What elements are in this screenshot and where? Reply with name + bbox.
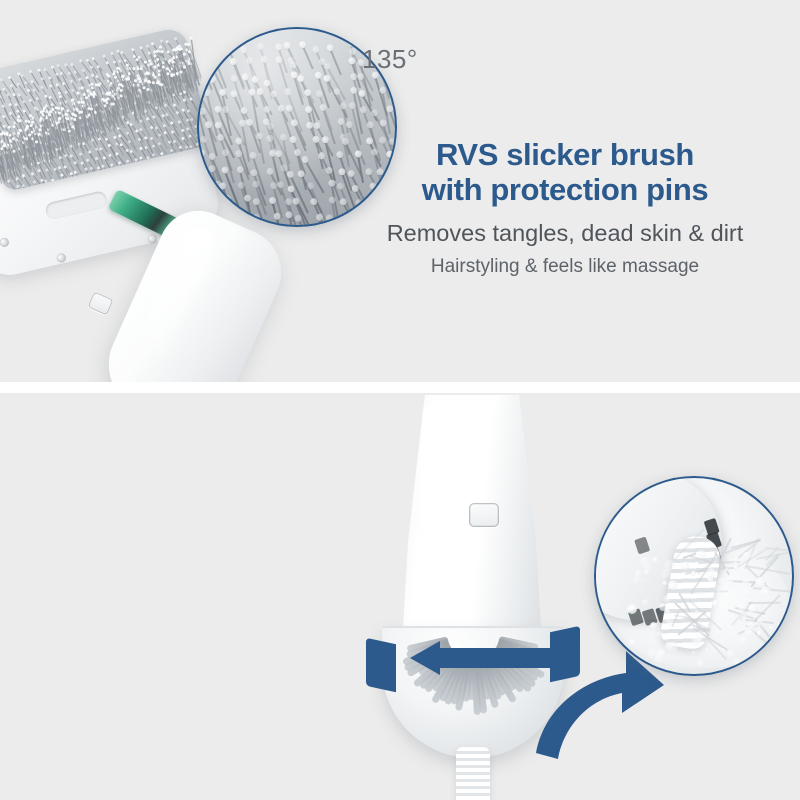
pin-ball-tip — [127, 78, 130, 81]
pin-ball-tip — [56, 122, 59, 125]
pin-ball-tip — [61, 107, 64, 110]
pin-ball-tip — [81, 87, 84, 90]
pin-ball-tip — [156, 81, 159, 84]
pin-ball-tip — [156, 50, 159, 53]
pin-ball-tip — [87, 89, 90, 92]
hair-tuft — [742, 578, 750, 586]
pin-ball-tip — [80, 111, 83, 114]
pin-ball-tip — [40, 117, 43, 120]
pin-ball-tip — [18, 119, 21, 122]
hair-tuft — [721, 648, 725, 652]
pin-ball-tip — [137, 67, 140, 70]
pin-ball-tip — [114, 76, 117, 79]
pin-ball-tip — [176, 72, 179, 75]
pin-ball-tip — [91, 83, 94, 86]
pin-ball-tip — [154, 54, 157, 57]
pet-hair-dryer-photo — [330, 395, 630, 800]
pin-ball-tip — [161, 50, 164, 53]
hair-tuft — [760, 587, 771, 598]
hair-tuft — [743, 552, 750, 559]
hair-tuft — [718, 577, 726, 585]
pin-ball-tip — [8, 126, 11, 129]
pin-ball-tip — [187, 43, 190, 46]
pin-ball-tip — [137, 77, 140, 80]
pin-ball-tip — [168, 59, 171, 62]
pin-ball-tip — [59, 95, 62, 98]
pin-ball-tip — [142, 86, 145, 89]
pin-ball-tip — [166, 67, 169, 70]
pin-ball-tip — [57, 107, 60, 110]
hair-tuft — [635, 569, 643, 577]
pin-ball-tip — [126, 64, 129, 67]
pin-ball-tip — [121, 75, 124, 78]
pin-ball-tip — [154, 76, 157, 79]
pin-ball-tip — [17, 115, 20, 118]
hair-tuft — [629, 639, 636, 646]
pin-ball-tip — [71, 113, 74, 116]
panel-divider — [0, 382, 800, 393]
pin-ball-tip — [107, 97, 110, 100]
pin-ball-tip — [90, 93, 93, 96]
pin-ball-tip — [81, 101, 84, 104]
pin-ball-tip — [97, 84, 100, 87]
filter-cap-tooth — [634, 536, 650, 554]
pin-ball-tip — [144, 61, 147, 64]
pin-ball-tip — [12, 137, 15, 140]
pin-ball-tip — [103, 99, 106, 102]
pin-ball-tip — [66, 117, 69, 120]
pin-ball-tip — [12, 125, 15, 128]
pin-ball-tip — [31, 121, 34, 124]
pin-ball-tip — [0, 147, 3, 150]
pin-ball-tip — [107, 75, 110, 78]
pin-ball-tip — [174, 49, 177, 52]
pin-ball-tip — [148, 60, 151, 63]
hair-tuft — [633, 577, 640, 584]
pin-ball-tip — [25, 127, 28, 130]
pin-ball-tip — [116, 67, 119, 70]
hair-tuft — [695, 610, 699, 614]
pin-ball-tip — [71, 99, 74, 102]
pin-ball-tip — [9, 134, 12, 137]
rvs-slicker-brush-feature-panel: 135° RVS slicker brush with protection p… — [0, 0, 800, 382]
filter-closeup-magnifier — [594, 476, 794, 676]
pin-ball-tip — [87, 107, 90, 110]
pin-ball-tip — [110, 82, 113, 85]
pin-ball-tip — [183, 66, 186, 69]
pin-ball-tip — [139, 80, 142, 83]
pin-ball-tip — [140, 67, 143, 70]
pin-ball-tip — [58, 112, 61, 115]
hair-tuft — [659, 603, 667, 611]
pin-ball-tip — [120, 89, 123, 92]
pin-ball-tip — [162, 66, 165, 69]
pin-ball-tip — [188, 62, 191, 65]
hair-tuft — [744, 627, 755, 638]
pin-ball-tip — [144, 79, 147, 82]
pin-ball-tip — [85, 96, 88, 99]
pin-ball-tip — [48, 113, 51, 116]
pin-ball-tip — [147, 72, 150, 75]
pin-ball-tip — [25, 137, 28, 140]
pin-ball-tip — [184, 43, 187, 46]
hair-tuft — [662, 569, 671, 578]
pin-ball-tip — [90, 108, 93, 111]
hair-tuft — [697, 660, 704, 667]
pin-ball-tip — [0, 140, 3, 143]
pin-ball-tip — [133, 67, 136, 70]
pin-ball-tip — [38, 133, 41, 136]
hair-tuft — [697, 550, 706, 559]
hair-tuft — [640, 557, 650, 567]
hair-tuft — [662, 581, 667, 586]
product-infographic: 135° RVS slicker brush with protection p… — [0, 0, 800, 800]
pin-ball-tip — [183, 53, 186, 56]
pin-ball-tip — [19, 129, 22, 132]
brush-power-button[interactable] — [87, 291, 113, 315]
hair-tuft — [717, 591, 721, 595]
pin-ball-tip — [28, 134, 31, 137]
pin-ball-tip — [4, 132, 7, 135]
pin-ball-tip — [167, 72, 170, 75]
hair-tuft — [666, 618, 674, 626]
pin-ball-tip — [35, 140, 38, 143]
hair-tuft — [665, 609, 670, 614]
pin-ball-tip — [43, 107, 46, 110]
pin-ball-tip — [152, 81, 155, 84]
hair-tuft — [767, 642, 774, 649]
hair-tuft — [725, 568, 728, 571]
pin-ball-tip — [172, 61, 175, 64]
top-panel-subtitle-2: Hairstyling & feels like massage — [330, 256, 800, 279]
pin-ball-tip — [64, 113, 67, 116]
hair-tuft — [727, 650, 735, 658]
ribbed-cord — [456, 747, 490, 800]
hair-tuft — [644, 570, 649, 575]
hair-tuft — [668, 580, 678, 590]
pin-ball-tip — [180, 71, 183, 74]
dryer-power-button[interactable] — [469, 503, 499, 527]
pin-ball-tip — [49, 110, 52, 113]
pin-ball-tip — [0, 133, 3, 136]
hair-tuft — [667, 642, 678, 653]
hair-tuft — [628, 657, 635, 664]
pin-ball-tip — [159, 46, 162, 49]
pin-ball-tip — [71, 125, 74, 128]
pin-ball-tip — [68, 130, 71, 133]
pin-ball-tip — [171, 74, 174, 77]
pin-ball-tip — [2, 144, 5, 147]
hair-tuft — [691, 571, 696, 576]
pin-ball-tip — [29, 114, 32, 117]
pin-ball-tip — [83, 93, 86, 96]
pin-ball-tip — [13, 150, 16, 153]
hair-tuft — [740, 611, 748, 619]
pin-ball-tip — [147, 88, 150, 91]
pin-ball-tip — [28, 120, 31, 123]
pin-ball-tip — [178, 48, 181, 51]
pin-ball-tip — [156, 58, 159, 61]
pin-ball-tip — [77, 92, 80, 95]
pin-ball-tip — [39, 128, 42, 131]
top-panel-subtitle-1: Removes tangles, dead skin & dirt — [330, 219, 800, 247]
pin-ball-tip — [108, 91, 111, 94]
pin-angle-label: 135° — [362, 44, 418, 75]
hair-tuft — [642, 599, 649, 606]
hair-tuft — [757, 630, 762, 635]
hair-tuft — [742, 587, 752, 597]
pin-ball-tip — [134, 79, 137, 82]
hair-tuft — [755, 577, 765, 587]
pin-ball-tip — [160, 83, 163, 86]
pin-ball-tip — [135, 58, 138, 61]
pin-ball-tip — [112, 72, 115, 75]
pin-ball-tip — [150, 62, 153, 65]
pin-ball-tip — [51, 108, 54, 111]
top-panel-text-block: RVS slicker brush with protection pins R… — [330, 138, 800, 278]
pin-ball-tip — [154, 66, 157, 69]
pin-ball-tip — [190, 37, 193, 40]
hair-tuft — [738, 602, 747, 611]
pin-ball-tip — [87, 114, 90, 117]
top-panel-heading: RVS slicker brush with protection pins — [330, 138, 800, 207]
pin-ball-tip — [31, 131, 34, 134]
pin-ball-tip — [17, 132, 20, 135]
